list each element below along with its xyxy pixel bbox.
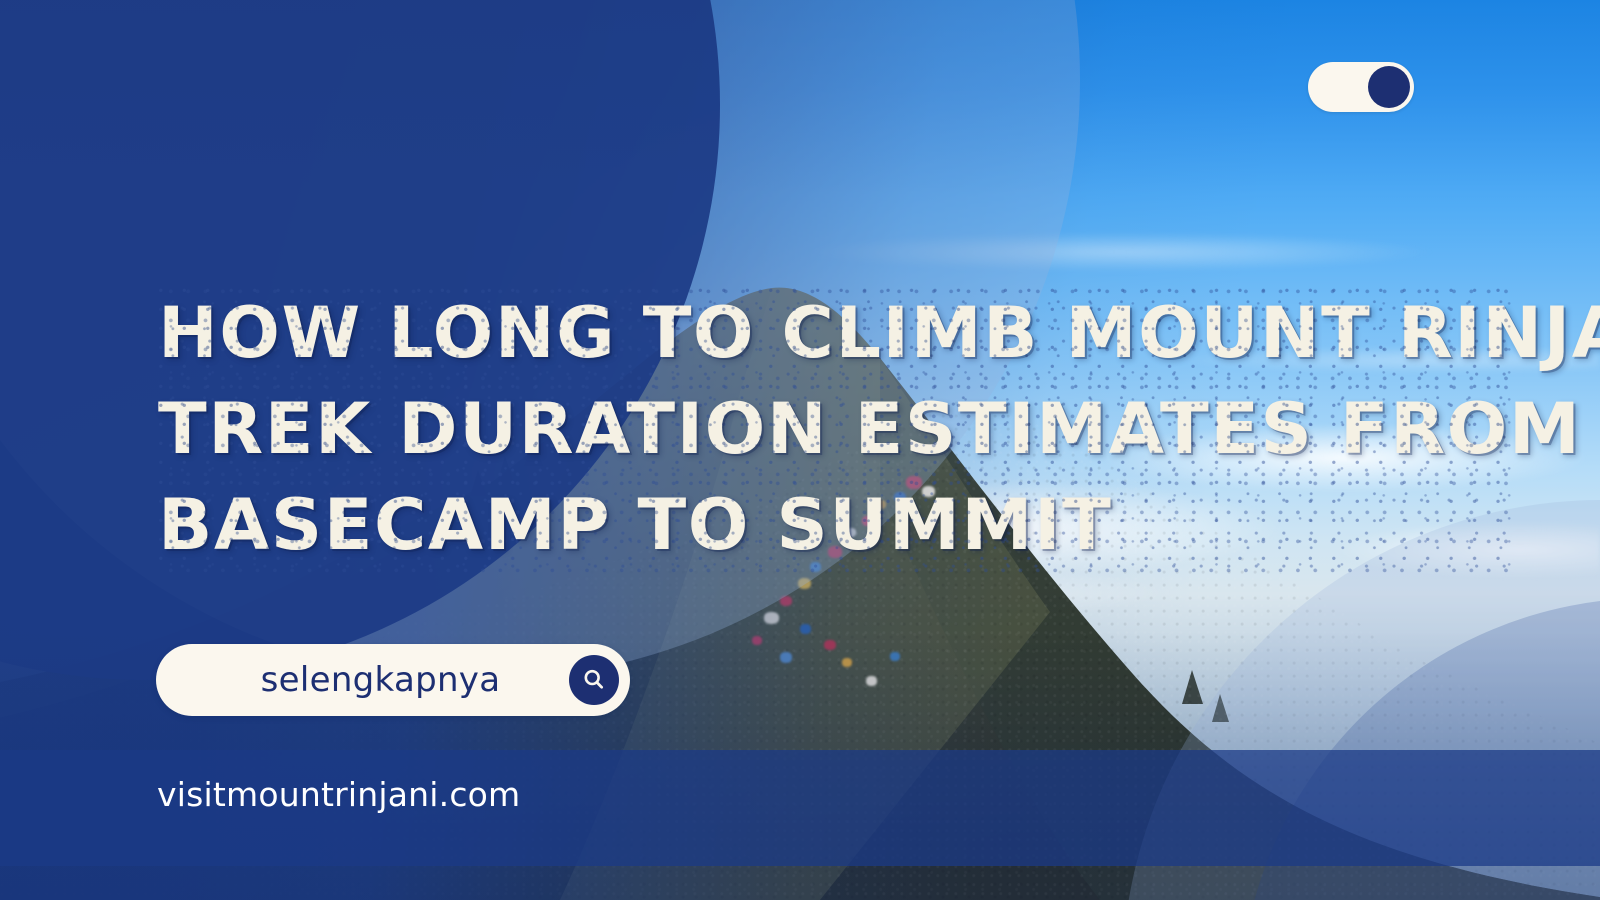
headline-line-2: Trek duration estimates from: [158, 381, 1515, 477]
headline-line-1: How long to climb Mount Rinjani?: [158, 285, 1515, 381]
toggle-knob: [1368, 66, 1410, 108]
cta-label: selengkapnya: [156, 660, 569, 700]
page-title: How long to climb Mount Rinjani? Trek du…: [158, 285, 1515, 573]
headline-line-3: basecamp to summit: [158, 477, 1515, 573]
selengkapnya-button[interactable]: selengkapnya: [156, 644, 630, 716]
promo-banner: How long to climb Mount Rinjani? Trek du…: [0, 0, 1600, 900]
toggle-switch-icon[interactable]: [1308, 62, 1414, 112]
site-url: visitmountrinjani.com: [157, 775, 520, 814]
banner-content: How long to climb Mount Rinjani? Trek du…: [0, 0, 1600, 900]
search-icon[interactable]: [569, 655, 619, 705]
